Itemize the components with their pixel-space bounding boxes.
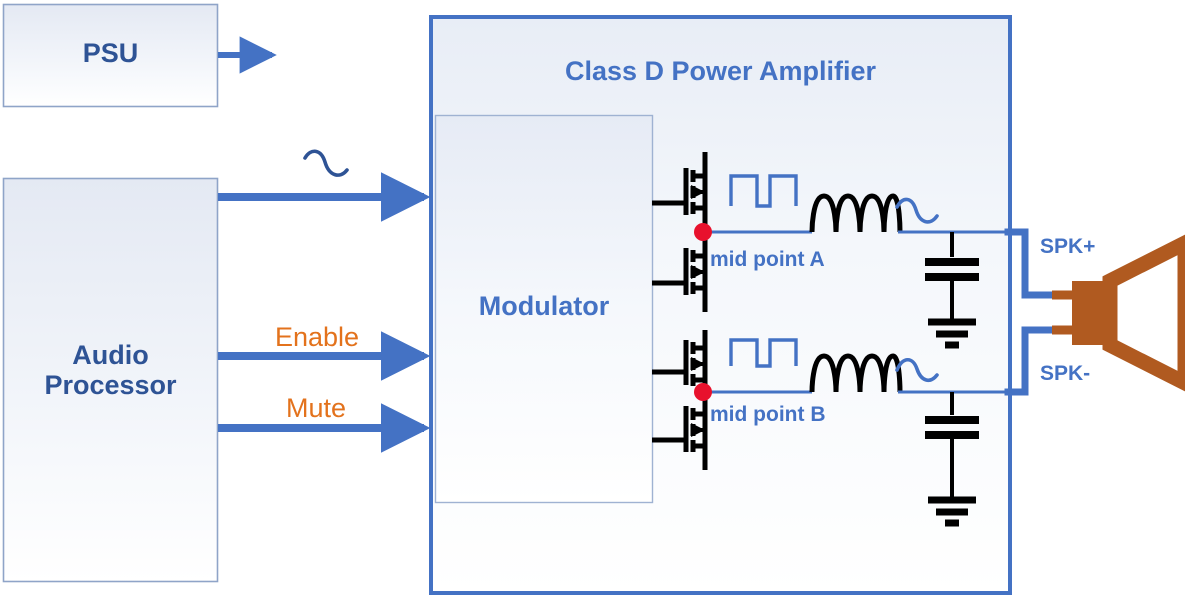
midpoint-b-node xyxy=(694,383,712,401)
modulator-label: Modulator xyxy=(436,291,652,321)
amplifier-title: Class D Power Amplifier xyxy=(431,56,1010,86)
midpoint-b-label: mid point B xyxy=(710,403,825,427)
input-sine-wave-icon xyxy=(305,151,347,175)
audio-processor-label-line1: Audio xyxy=(3,340,218,370)
audio-processor-label: Audio Processor xyxy=(3,340,218,400)
spk-plus-label: SPK+ xyxy=(1040,235,1095,259)
psu-label: PSU xyxy=(3,38,218,68)
spk-minus-label: SPK- xyxy=(1040,362,1090,386)
block-diagram-canvas: PSU Audio Processor Class D Power Amplif… xyxy=(0,0,1185,596)
midpoint-a-label: mid point A xyxy=(710,248,825,272)
audio-processor-label-line2: Processor xyxy=(3,370,218,400)
enable-signal-label: Enable xyxy=(275,322,359,352)
midpoint-a-node xyxy=(694,223,712,241)
mute-signal-label: Mute xyxy=(286,393,346,423)
